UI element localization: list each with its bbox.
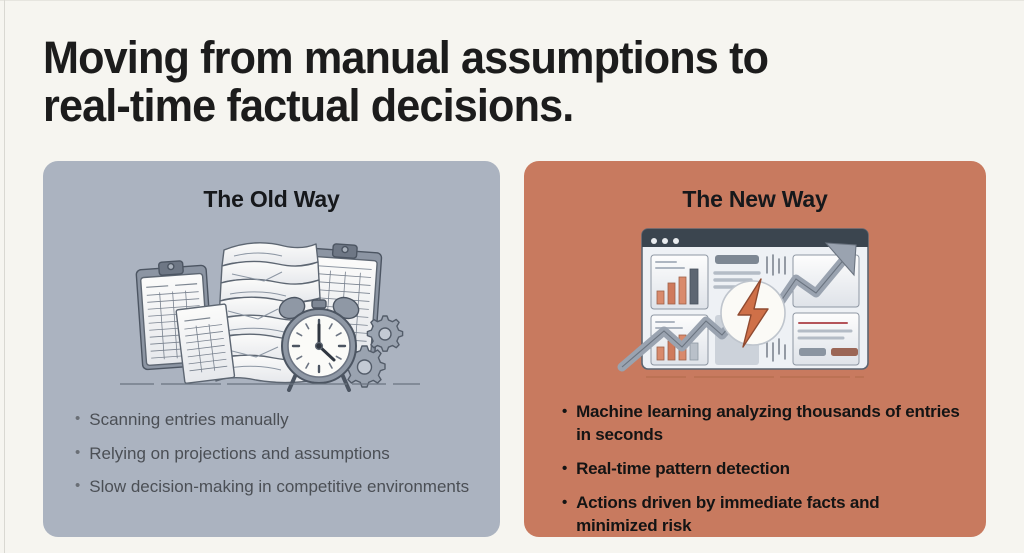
bullet-text: Relying on projections and assumptions xyxy=(89,442,474,467)
bullet-text: Scanning entries manually xyxy=(89,408,474,433)
list-item: • Actions driven by immediate facts and … xyxy=(562,492,962,537)
bullet-marker-icon: • xyxy=(562,492,567,514)
old-way-bullet-list: • Scanning entries manually • Relying on… xyxy=(43,408,500,509)
card-new-way-heading: The New Way xyxy=(524,186,986,213)
page-title-line-2: real-time factual decisions. xyxy=(43,82,936,130)
dashboard-window-charts-trend-arrow-lightning-bolt-icon xyxy=(610,217,900,385)
page-title-line-1: Moving from manual assumptions to xyxy=(43,34,936,82)
card-old-way: The Old Way xyxy=(43,161,500,537)
new-way-illustration xyxy=(524,217,986,385)
bullet-marker-icon: • xyxy=(562,401,567,423)
bullet-marker-icon: • xyxy=(75,442,80,464)
list-item: • Machine learning analyzing thousands o… xyxy=(562,401,962,447)
bullet-text: Actions driven by immediate facts and mi… xyxy=(576,492,962,537)
list-item: • Real-time pattern detection xyxy=(562,458,962,481)
page-title: Moving from manual assumptions to real-t… xyxy=(43,34,936,130)
slide-root: Moving from manual assumptions to real-t… xyxy=(0,0,1024,553)
list-item: • Relying on projections and assumptions xyxy=(75,442,474,467)
old-way-illustration xyxy=(43,217,500,392)
bullet-marker-icon: • xyxy=(75,475,80,497)
comparison-cards: The Old Way xyxy=(43,161,986,537)
list-item: • Scanning entries manually xyxy=(75,408,474,433)
card-new-way: The New Way xyxy=(524,161,986,537)
bullet-text: Slow decision-making in competitive envi… xyxy=(89,475,474,500)
card-old-way-heading: The Old Way xyxy=(43,186,500,213)
list-item: • Slow decision-making in competitive en… xyxy=(75,475,474,500)
bullet-text: Real-time pattern detection xyxy=(576,458,962,481)
bullet-text: Machine learning analyzing thousands of … xyxy=(576,401,962,447)
bullet-marker-icon: • xyxy=(75,408,80,430)
bullet-marker-icon: • xyxy=(562,458,567,480)
paper-stack-clipboard-alarm-clock-gears-icon xyxy=(112,224,432,392)
new-way-bullet-list: • Machine learning analyzing thousands o… xyxy=(524,401,986,537)
